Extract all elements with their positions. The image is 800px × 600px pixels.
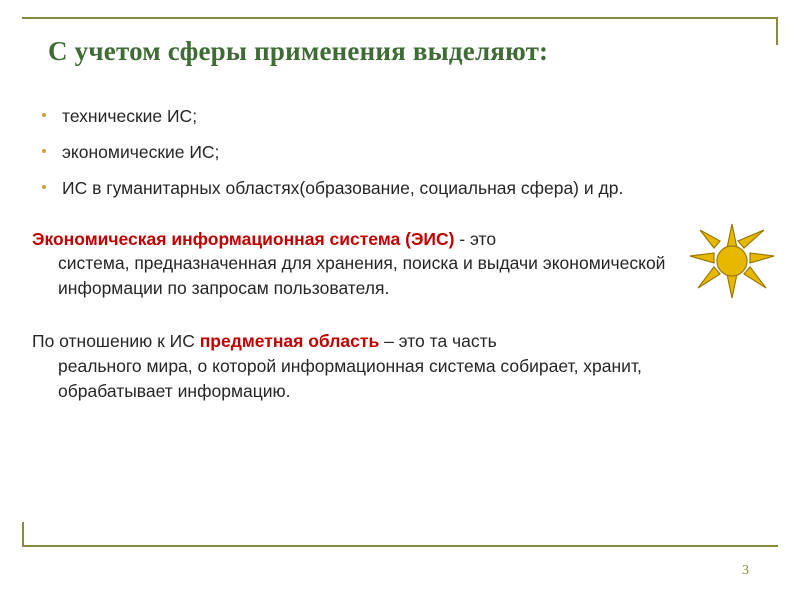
domain-continuation: реального мира, о которой информационная… (32, 354, 730, 404)
paragraph-eis: Экономическая информационная система (ЭИ… (30, 227, 730, 302)
list-item: экономические ИС; (30, 140, 730, 165)
list-item: ИС в гуманитарных областях(образование, … (30, 176, 730, 201)
top-rule-right-tick (776, 17, 778, 45)
eis-term: Экономическая информационная система (ЭИ… (32, 229, 454, 249)
top-rule (22, 17, 778, 19)
eis-first-line-rest: - это (454, 229, 496, 249)
paragraph-domain: По отношению к ИС предметная область – э… (30, 329, 730, 404)
bullet-dot-icon (42, 149, 46, 153)
bullet-list: технические ИС; экономические ИС; ИС в г… (30, 104, 730, 201)
list-item-label: ИС в гуманитарных областях(образование, … (62, 178, 623, 198)
bottom-rule (22, 545, 778, 547)
slide: С учетом сферы применения выделяют: техн… (0, 0, 800, 600)
list-item-label: технические ИС; (62, 106, 197, 126)
page-title: С учетом сферы применения выделяют: (48, 36, 748, 67)
domain-suffix: – это та часть (379, 331, 497, 351)
page-number: 3 (742, 563, 749, 579)
bullet-dot-icon (42, 113, 46, 117)
bullet-dot-icon (42, 185, 46, 189)
slide-body: технические ИС; экономические ИС; ИС в г… (30, 104, 730, 404)
list-item-label: экономические ИС; (62, 142, 219, 162)
domain-term: предметная область (200, 331, 379, 351)
domain-prefix: По отношению к ИС (32, 331, 200, 351)
list-item: технические ИС; (30, 104, 730, 129)
sun-icon (688, 222, 776, 300)
bottom-rule-left-tick (22, 522, 24, 547)
eis-continuation: система, предназначенная для хранения, п… (32, 251, 730, 301)
